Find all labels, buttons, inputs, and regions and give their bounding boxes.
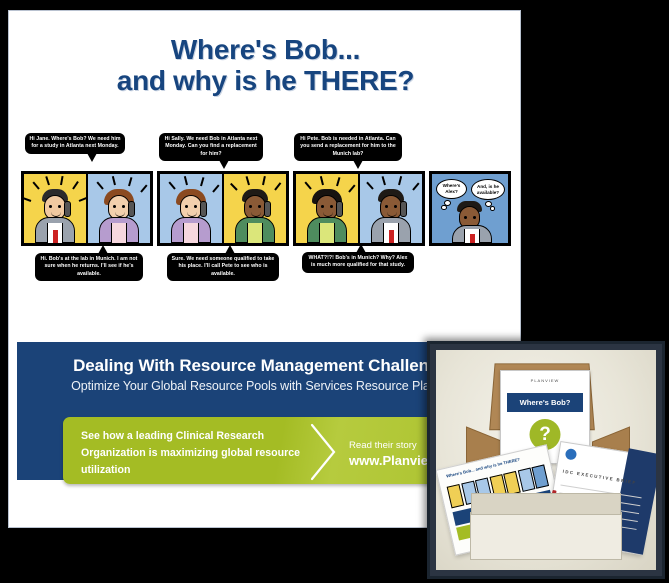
thought-bubble-left: Where's Alex? — [436, 179, 467, 199]
title-line-1: Where's Bob... — [9, 35, 521, 65]
speech-bubble-1-top: Hi Jane. Where's Bob? We need him for a … — [25, 133, 125, 154]
panel-1-right-scene — [88, 174, 150, 243]
panel-4-scene: Where's Alex? And, is he available? — [432, 174, 508, 243]
character-bob — [450, 201, 490, 243]
photo-scene: PLANVIEW Where's Bob? ? Where's Bob... a… — [436, 350, 656, 570]
speech-bubble-2-top: Hi Sally. We need Bob in Atlanta next Mo… — [159, 133, 263, 161]
comic-strip: Hi Jane. Where's Bob? We need him for a … — [17, 131, 514, 316]
comic-panel-4: Where's Alex? And, is he available? — [429, 171, 511, 246]
panel-2-right-scene — [224, 174, 286, 243]
speech-bubble-2-bottom: Sure. We need someone qualified to take … — [167, 253, 279, 281]
page-title: Where's Bob... and why is he THERE? — [9, 35, 521, 96]
comic-panel-1 — [21, 171, 153, 246]
comic-panel-2 — [157, 171, 289, 246]
character-woman-purple — [169, 187, 213, 243]
panel-3-right-scene — [360, 174, 422, 243]
cta-message: See how a leading Clinical Research Orga… — [81, 428, 311, 479]
character-woman-purple — [97, 187, 141, 243]
comic-panel-3 — [293, 171, 425, 246]
character-man-gray-suit — [33, 187, 77, 243]
product-kit-photo: PLANVIEW Where's Bob? ? Where's Bob... a… — [427, 341, 665, 579]
chevron-right-icon — [308, 423, 342, 481]
character-man-gray-suit — [369, 187, 413, 243]
planview-logo: PLANVIEW — [531, 378, 560, 383]
shipping-box-front — [470, 512, 622, 560]
wheres-bob-card-title: Where's Bob? — [507, 393, 583, 412]
speech-bubble-3-top: Hi Pete. Bob is needed in Atlanta. Can y… — [294, 133, 402, 161]
title-line-2: and why is he THERE? — [9, 65, 521, 96]
character-man-green-suit — [233, 187, 277, 243]
thought-bubble-right: And, is he available? — [471, 179, 505, 200]
character-woman-green — [305, 187, 349, 243]
panel-1-left-scene — [24, 174, 88, 243]
speech-bubble-3-bottom: WHAT?!?! Bob's in Munich? Why? Alex is m… — [302, 252, 414, 273]
poster-stage: Where's Bob... and why is he THERE? Hi J… — [0, 0, 669, 583]
panel-3-left-scene — [296, 174, 360, 243]
idc-logo-icon — [565, 448, 578, 461]
panel-2-left-scene — [160, 174, 224, 243]
speech-bubble-1-bottom: Hi. Bob's at the lab in Munich. I am not… — [35, 253, 143, 281]
